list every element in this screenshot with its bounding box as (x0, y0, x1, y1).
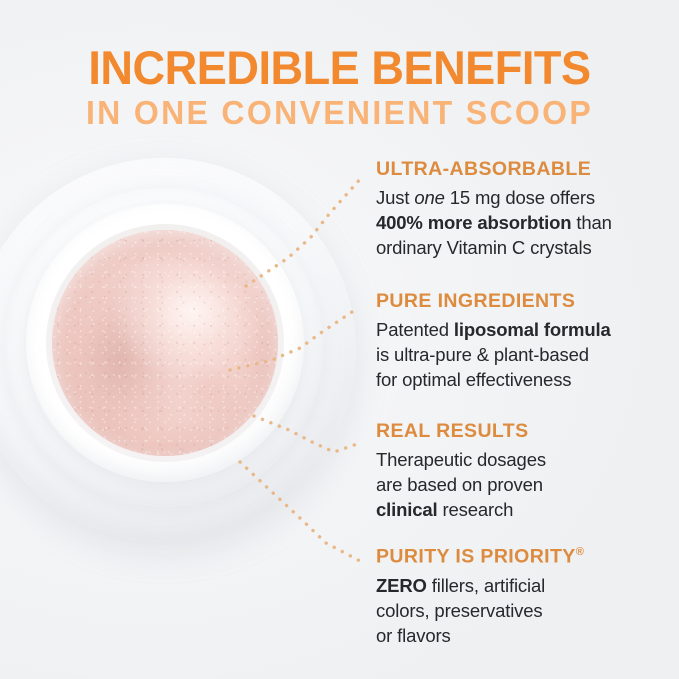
benefit-body: Patented liposomal formulais ultra-pure … (376, 317, 672, 392)
title-block: INCREDIBLE BENEFITS IN ONE CONVENIENT SC… (0, 44, 679, 132)
pink-powder (52, 230, 278, 456)
text-run: research (438, 499, 514, 520)
benefit-callout-real-results: REAL RESULTS Therapeutic dosagesare base… (376, 420, 672, 522)
text-run: ZERO (376, 575, 427, 596)
benefit-body: Therapeutic dosagesare based on provencl… (376, 447, 672, 522)
text-run: Just (376, 187, 414, 208)
text-run: are based on proven (376, 474, 543, 495)
registered-trademark-symbol: ® (576, 546, 584, 558)
text-run: clinical (376, 499, 438, 520)
text-run: 400% more absorbtion (376, 212, 571, 233)
benefit-heading: PURE INGREDIENTS (376, 290, 672, 312)
benefit-callout-purity-is-priority: PURITY IS PRIORITY® ZERO fillers, artifi… (376, 541, 672, 648)
benefit-body: ZERO fillers, artificialcolors, preserva… (376, 573, 672, 648)
text-run: Therapeutic dosages (376, 449, 546, 470)
benefit-heading: REAL RESULTS (376, 420, 672, 442)
benefits-infographic: INCREDIBLE BENEFITS IN ONE CONVENIENT SC… (0, 0, 679, 679)
text-run: ordinary Vitamin C crystals (376, 237, 592, 258)
text-run: colors, preservatives (376, 600, 543, 621)
text-run: fillers, artificial (427, 575, 545, 596)
text-run: is ultra-pure & plant-based (376, 344, 589, 365)
text-run: 15 mg dose offers (445, 187, 595, 208)
benefit-heading: PURITY IS PRIORITY® (376, 541, 672, 568)
text-run: one (414, 187, 444, 208)
text-run: liposomal formula (454, 319, 611, 340)
text-run: for optimal effectiveness (376, 369, 571, 390)
text-run: Patented (376, 319, 454, 340)
benefit-heading: ULTRA-ABSORBABLE (376, 158, 672, 180)
benefit-callout-pure-ingredients: PURE INGREDIENTS Patented liposomal form… (376, 290, 672, 392)
benefit-callout-ultra-absorbable: ULTRA-ABSORBABLE Just one 15 mg dose off… (376, 158, 672, 260)
text-run: than (571, 212, 611, 233)
product-photo-bowl-of-powder (0, 148, 364, 548)
headline-primary: INCREDIBLE BENEFITS (14, 44, 666, 92)
benefit-body: Just one 15 mg dose offers400% more abso… (376, 185, 672, 260)
text-run: or flavors (376, 625, 451, 646)
headline-secondary: IN ONE CONVENIENT SCOOP (10, 94, 669, 132)
powder-grain-texture (52, 230, 278, 456)
